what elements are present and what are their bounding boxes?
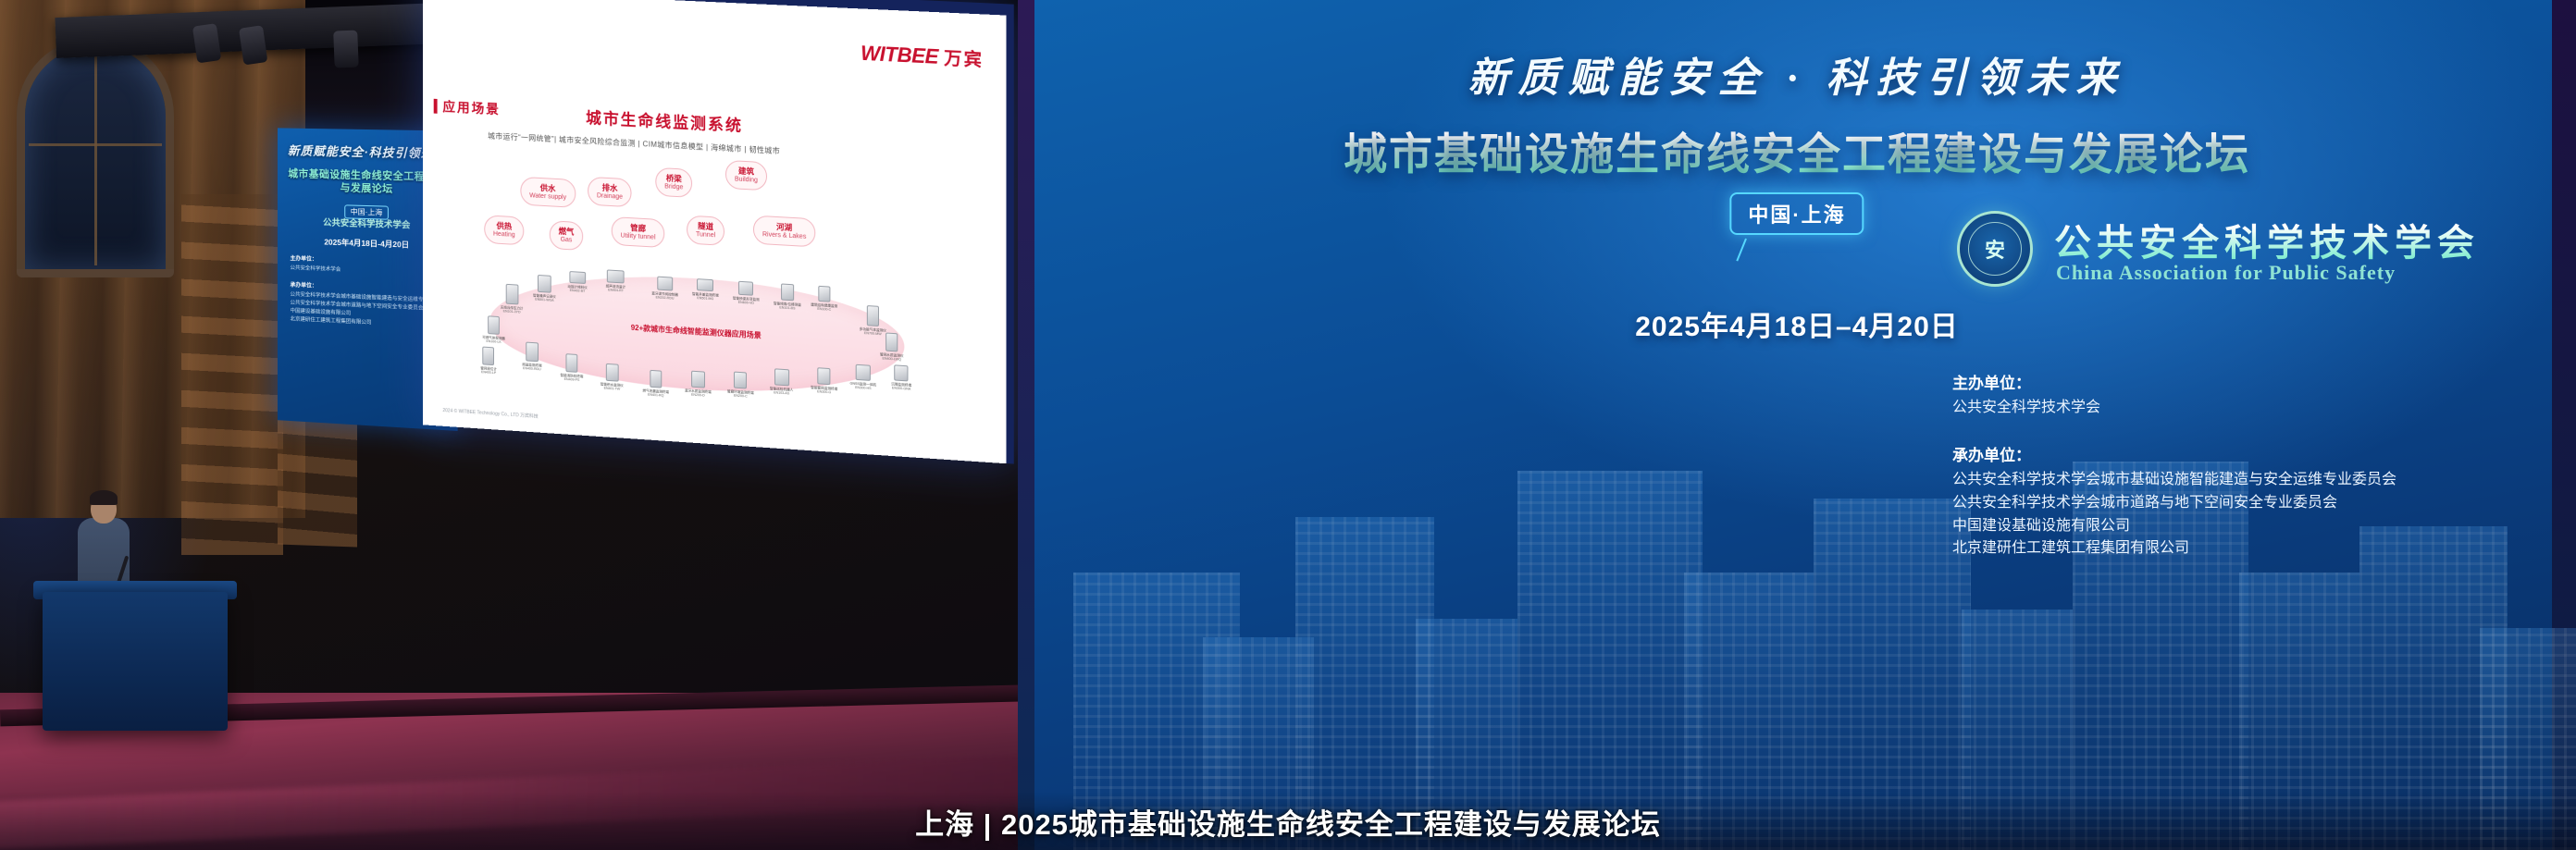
side-organizer-line: 中国建设基础设施有限公司	[291, 308, 352, 316]
device-image	[867, 305, 879, 326]
side-city-badge: 中国·上海	[344, 204, 389, 219]
side-host-line: 公共安全科学技术学会	[291, 265, 341, 273]
device-image	[774, 368, 789, 386]
scenario-bubble-en: Building	[735, 176, 758, 185]
scenario-bubble: 河湖Rivers & Lakes	[753, 216, 815, 248]
device-image	[538, 275, 551, 293]
device-image	[483, 347, 495, 366]
scenario-bubble-en: Water supply	[529, 192, 566, 203]
scenario-bubble-en: Bridge	[664, 183, 683, 192]
device-item: 超声波流量计EN404-RT	[606, 269, 625, 293]
device-item: 建筑结构健康监测EN100-C	[811, 285, 837, 312]
host-heading: 主办单位：	[1952, 370, 2100, 393]
caption-text: 上海 | 2025城市基础设施生命线安全工程建设与发展论坛	[915, 801, 1661, 843]
device-item: GNSS监测一体机EN300-HS	[850, 363, 876, 390]
organizer-block: 承办单位： 公共安全科学技术学会城市基础设施智能建造与安全运维专业委员会 公共安…	[1952, 442, 2396, 561]
device-image	[691, 371, 705, 388]
device-item: 智能井盖监测终端EN501-MG	[692, 278, 719, 302]
device-item: 智能倾角/位移测量EN101-BS	[774, 283, 801, 311]
scenario-bubble: 桥梁Bridge	[655, 167, 692, 198]
scenario-bubble-en: Utility tunnel	[621, 232, 656, 242]
arched-window	[17, 37, 174, 277]
backdrop-main-title: 城市基础设施生命线安全工程建设与发展论坛	[1018, 118, 2576, 182]
scenario-bubble-cn: 建筑	[735, 166, 758, 177]
brand-cn: 万宾	[944, 49, 984, 70]
spotlight-icon	[239, 25, 267, 65]
scenario-bubble: 供水Water supply	[520, 177, 576, 208]
conference-date: 2025年4月18日–4月20日	[1018, 303, 2576, 344]
scenario-bubble: 隧道Tunnel	[687, 216, 724, 247]
device-code: EN400-LP	[480, 371, 497, 376]
device-image	[885, 332, 898, 351]
side-organizer-heading: 承办单位：	[291, 282, 317, 289]
organizer-line: 公共安全科学技术学会城市道路与地下空间安全专业委员会	[1952, 492, 2396, 515]
organizer-line: 北京建研住工建筑工程集团有限公司	[1952, 537, 2396, 561]
device-item: 管网水质监测仪EN400-LWQ	[880, 332, 904, 362]
scenario-bubble: 供热Heating	[484, 215, 524, 246]
wall-panel	[181, 194, 283, 555]
device-image	[505, 284, 518, 305]
device-item: 管廊环境监测终端EN200-C	[727, 371, 754, 399]
device-image	[734, 372, 747, 389]
device-item: 智能积水监测仪EN401-TW	[601, 363, 624, 391]
backdrop-calligraphy-title: 新质赋能安全 · 科技引领未来	[1018, 44, 2576, 104]
device-code: EN300-GNA	[891, 387, 911, 391]
device-item: 燃气泄漏监测终端EN401-RQ	[642, 369, 669, 398]
device-image	[856, 364, 871, 381]
scenario-bubble-cn: 燃气	[559, 227, 575, 238]
organizer-heading: 承办单位：	[1952, 442, 2396, 465]
scenario-bubble-cn: 桥梁	[664, 173, 683, 184]
device-image	[818, 367, 831, 385]
device-image	[818, 286, 830, 302]
device-item: 智能噪声记录仪EN501-WGA	[533, 275, 556, 303]
slide-section-tab: 应用场景	[442, 97, 500, 118]
device-item: 蓝牙水质监测终端EN200-D	[685, 370, 712, 398]
device-image	[657, 277, 673, 291]
device-item: 智能桥梁形变监测EN600-VD	[733, 280, 760, 305]
badge-tail	[1736, 239, 1747, 262]
device-item: 智能消防栓终端EN409-PS	[561, 353, 584, 383]
device-item: 智能管网监测终端EN300-G	[811, 367, 837, 395]
scenario-bubble-en: Tunnel	[696, 231, 715, 240]
organizer-line: 公共安全科学技术学会城市基础设施智能建造与安全运维专业委员会	[1952, 469, 2396, 492]
host-block: 主办单位： 公共安全科学技术学会	[1952, 370, 2100, 420]
device-image	[526, 342, 539, 363]
device-code: EN400-RDU	[522, 367, 541, 372]
device-item: 沉降监测终端EN300-GNA	[891, 364, 911, 391]
caption-bar: 上海 | 2025城市基础设施生命线安全工程建设与发展论坛	[0, 793, 2576, 850]
speaker-hair	[90, 490, 118, 505]
witbee-logo: WITBEE万宾	[861, 41, 984, 72]
scenario-bubble-cn: 隧道	[696, 221, 715, 232]
device-item: 蓝牙调节阀控制器EN202-RDU	[651, 276, 678, 301]
scenario-bubble-en: Gas	[559, 236, 575, 245]
scenario-bubble: 燃气Gas	[550, 220, 583, 251]
device-item: 可燃气体探测器EN100-LK	[482, 315, 505, 345]
scenario-bubble-en: Heating	[493, 230, 515, 240]
spotlight-icon	[333, 31, 359, 68]
device-image	[566, 353, 578, 373]
device-item: 雨量监测终端EN400-RDU	[522, 341, 541, 372]
scenario-bubble-en: Drainage	[597, 192, 623, 202]
device-item: 智能巡检机器人EN103-AS	[770, 368, 793, 396]
seal-glyph: 安	[1985, 234, 2005, 264]
device-image	[569, 271, 586, 284]
association-name-en: China Association for Public Safety	[2056, 261, 2396, 285]
organizer-line: 中国建设基础设施有限公司	[1952, 515, 2396, 538]
association-name-cn: 公共安全科学技术学会	[2054, 213, 2480, 266]
device-item: 动摇计倾斜仪EN402-BT	[567, 271, 587, 294]
scenario-bubble: 建筑Building	[725, 160, 767, 191]
device-item: 管网液位计EN400-LP	[480, 346, 497, 375]
led-backdrop: 新质赋能安全 · 科技引领未来 城市基础设施生命线安全工程建设与发展论坛 中国·…	[1018, 0, 2576, 850]
device-image	[605, 363, 618, 382]
device-image	[781, 283, 794, 301]
host-line: 公共安全科学技术学会	[1952, 397, 2100, 420]
device-image	[895, 364, 909, 381]
device-image	[650, 370, 662, 388]
scenario-bubble-en: Rivers & Lakes	[762, 231, 806, 241]
spotlight-icon	[192, 23, 221, 63]
side-organizer-line: 北京建研住工建筑工程集团有限公司	[291, 317, 372, 326]
podium	[43, 592, 228, 731]
side-host-heading: 主办单位：	[291, 256, 317, 263]
device-image	[607, 269, 625, 283]
device-item: 无线远传压力计EN101-3YD	[501, 283, 524, 314]
slide-footer: 2024 © WITBEE Technology Co., LTD 万宾科技	[442, 407, 538, 420]
presentation-slide: WITBEE万宾 应用场景 城市生命线监测系统 城市运行“一网统管”| 城市安全…	[423, 0, 1007, 463]
slide-title: 城市生命线监测系统	[586, 105, 743, 136]
scenario-bubble: 管廊Utility tunnel	[612, 216, 665, 249]
conference-photo-composite: 新质赋能安全·科技引领未来 城市基础设施生命线安全工程建设与发展论坛 中国·上海…	[0, 0, 2576, 850]
device-code: EN401-TW	[601, 387, 624, 392]
device-image	[697, 278, 713, 291]
device-image	[488, 315, 500, 335]
association-seal-icon: 安	[1957, 211, 2033, 287]
city-badge: 中国·上海	[1729, 192, 1864, 235]
device-image	[738, 281, 753, 296]
scenario-bubble: 排水Drainage	[588, 177, 632, 208]
brand-en: WITBEE	[861, 42, 938, 68]
